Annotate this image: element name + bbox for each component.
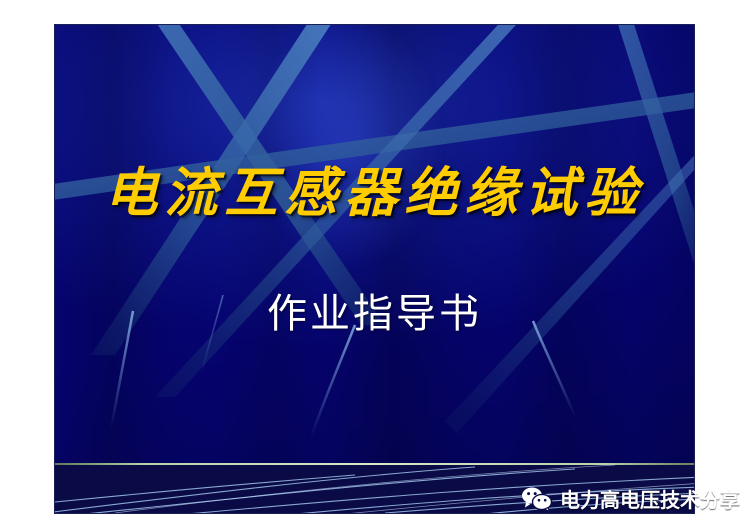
decorative-diagonal-lines bbox=[55, 25, 694, 513]
page-canvas: 电流互感器绝缘试验 作业指导书 bbox=[0, 0, 750, 530]
presentation-slide: 电流互感器绝缘试验 作业指导书 bbox=[55, 25, 694, 513]
watermark: 电力高电压技术分享 bbox=[520, 484, 740, 513]
slide-subtitle: 作业指导书 bbox=[55, 281, 694, 339]
slide-title: 电流互感器绝缘试验 bbox=[55, 151, 694, 227]
wechat-icon bbox=[520, 486, 554, 512]
watermark-text: 电力高电压技术分享 bbox=[560, 484, 740, 513]
